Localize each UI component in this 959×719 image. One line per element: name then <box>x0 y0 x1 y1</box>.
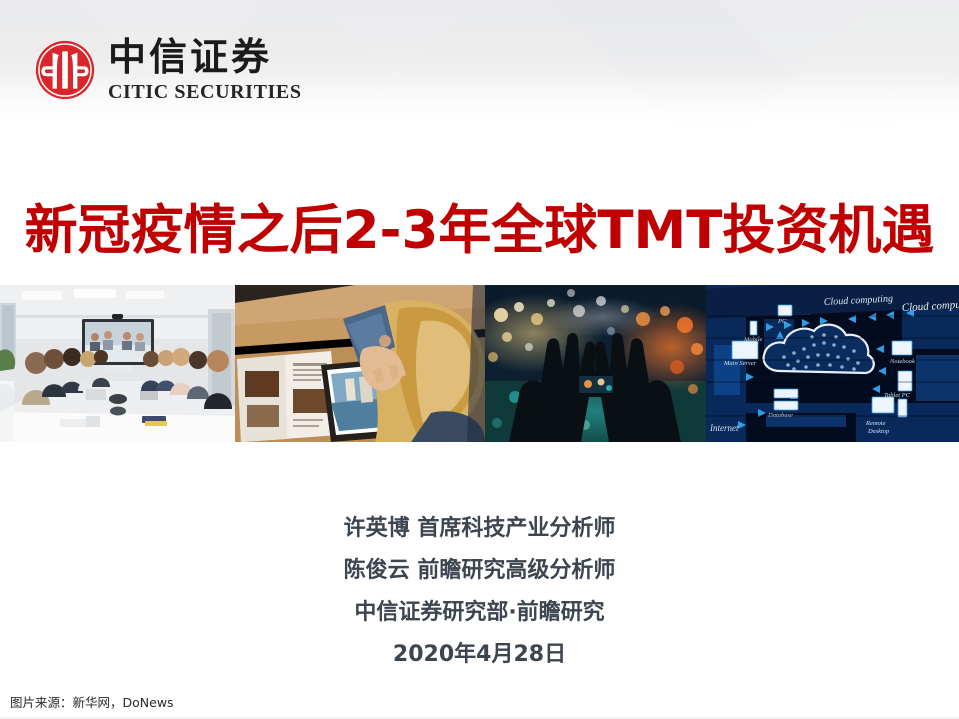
photo-cloud-computing-diagram: Cloud computing Cloud compu <box>706 285 959 442</box>
department-line: 中信证券研究部·前瞻研究 <box>0 602 959 624</box>
svg-text:Desktop: Desktop <box>867 428 890 435</box>
svg-text:Main Server: Main Server <box>723 360 757 367</box>
photo-hands-holding-phone-bokeh <box>485 285 706 442</box>
presentation-date: 2020年4月28日 <box>0 644 959 666</box>
slide-title: 新冠疫情之后2-3年全球TMT投资机遇 <box>0 188 959 264</box>
image-source-note: 图片来源：新华网，DoNews <box>10 692 174 711</box>
photo-child-with-tablet <box>235 285 485 442</box>
svg-text:Internet: Internet <box>709 423 739 433</box>
logo-english-name: CITIC SECURITIES <box>108 82 302 102</box>
citic-securities-logo: 中信证券 CITIC SECURITIES <box>34 38 302 102</box>
svg-text:Tablet PC: Tablet PC <box>884 392 911 399</box>
citic-circle-emblem-icon <box>34 39 96 101</box>
svg-text:Remote: Remote <box>865 420 886 427</box>
photo-strip: Cloud computing Cloud compu <box>0 285 959 442</box>
presenter-line: 陈俊云 前瞻研究高级分析师 <box>0 560 959 582</box>
presenter-info-block: 许英博 首席科技产业分析师 陈俊云 前瞻研究高级分析师 中信证券研究部·前瞻研究… <box>0 518 959 666</box>
svg-text:PC: PC <box>777 318 787 325</box>
logo-wordmark: 中信证券 CITIC SECURITIES <box>108 38 302 102</box>
presenter-line: 许英博 首席科技产业分析师 <box>0 518 959 540</box>
presentation-slide: 中信证券 CITIC SECURITIES 新冠疫情之后2-3年全球TMT投资机… <box>0 0 959 719</box>
photo-video-conference-room <box>0 285 235 442</box>
logo-chinese-name: 中信证券 <box>108 38 302 76</box>
